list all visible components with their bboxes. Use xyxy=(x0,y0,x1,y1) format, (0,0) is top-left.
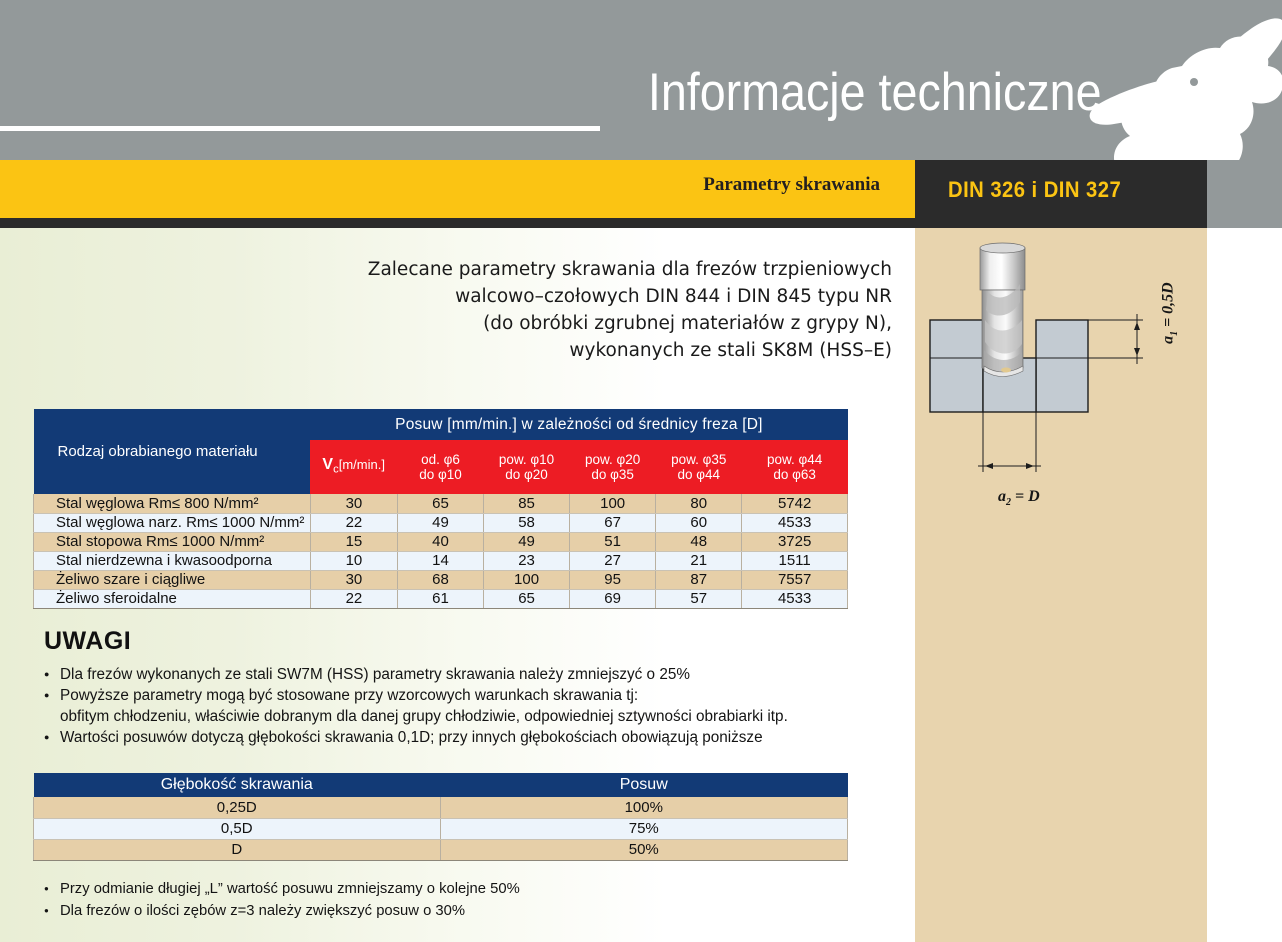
cell-feed-2: 23 xyxy=(483,551,569,570)
bottom-note-item: Przy odmianie długiej „L” wartość posuwu… xyxy=(44,878,844,900)
cell-vc: 22 xyxy=(310,589,397,608)
depth-table-body: 0,25D 100% 0,5D 75% D 50% xyxy=(34,797,848,860)
header-vc: Vc[m/min.] xyxy=(310,440,397,494)
horizontal-dimension-label: a2 = D xyxy=(998,488,1040,508)
cell-feed-3: 95 xyxy=(570,570,656,589)
vertical-dim-symbol: a xyxy=(1160,336,1177,344)
depth-head-row: Głębokość skrawania Posuw xyxy=(34,773,848,797)
cell-feed-1: 49 xyxy=(398,513,484,532)
intro-line-4: wykonanych ze stali SK8M (HSS–E) xyxy=(300,337,892,364)
cell-material: Stal węglowa narz. Rm≤ 1000 N/mm² xyxy=(34,513,311,532)
cell-feed-1: 14 xyxy=(398,551,484,570)
notes-title: UWAGI xyxy=(44,627,131,656)
note-item: Powyższe parametry mogą być stosowane pr… xyxy=(44,685,894,706)
header-rule xyxy=(0,126,600,131)
vc-symbol: V xyxy=(322,456,333,473)
table-row: Stal nierdzewna i kwasoodporna 10 14 23 … xyxy=(34,551,848,570)
table-head-row-1: Rodzaj obrabianego materiału Posuw [mm/m… xyxy=(34,409,848,440)
cell-feed-1: 61 xyxy=(398,589,484,608)
cell-feed: 50% xyxy=(440,839,847,860)
table-row: 0,5D 75% xyxy=(34,818,848,839)
end-mill-cutting-diagram xyxy=(928,240,1198,530)
cell-feed-4: 21 xyxy=(656,551,742,570)
cell-feed-2: 49 xyxy=(483,532,569,551)
cell-vc: 22 xyxy=(310,513,397,532)
cell-feed-3: 51 xyxy=(570,532,656,551)
cell-depth: D xyxy=(34,839,441,860)
bottom-note-item: Dla frezów o ilości zębów z=3 należy zwi… xyxy=(44,900,844,922)
cell-feed-2: 85 xyxy=(483,494,569,513)
banner-gray-tail xyxy=(1207,160,1282,228)
cell-feed-1: 40 xyxy=(398,532,484,551)
cell-feed-3: 27 xyxy=(570,551,656,570)
cell-material: Stal nierdzewna i kwasoodporna xyxy=(34,551,311,570)
header-dia-4-top: pow. φ35 xyxy=(656,452,741,467)
header-dia-1-bottom: do φ10 xyxy=(398,467,483,482)
table-row: Stal węglowa narz. Rm≤ 1000 N/mm² 22 49 … xyxy=(34,513,848,532)
cell-feed-4: 48 xyxy=(656,532,742,551)
header-dia-4: pow. φ35 do φ44 xyxy=(656,440,742,494)
cell-feed-5: 1511 xyxy=(742,551,848,570)
cell-material: Żeliwo sferoidalne xyxy=(34,589,311,608)
header-material: Rodzaj obrabianego materiału xyxy=(34,409,311,494)
cell-feed-4: 60 xyxy=(656,513,742,532)
cell-vc: 15 xyxy=(310,532,397,551)
standard-label: DIN 326 i DIN 327 xyxy=(948,177,1121,203)
table-row: 0,25D 100% xyxy=(34,797,848,818)
banner-yellow-bar: Parametry skrawania xyxy=(0,160,915,218)
table-row: Żeliwo szare i ciągliwe 30 68 100 95 87 … xyxy=(34,570,848,589)
depth-header-depth: Głębokość skrawania xyxy=(34,773,441,797)
cell-depth: 0,5D xyxy=(34,818,441,839)
vertical-dimension-label: a1 = 0,5D xyxy=(1160,282,1180,344)
hummingbird-icon xyxy=(1086,14,1282,160)
note-item: Wartości posuwów dotyczą głębokości skra… xyxy=(44,727,894,748)
cutting-parameters-table: Rodzaj obrabianego materiału Posuw [mm/m… xyxy=(33,409,848,609)
table-body: Stal węglowa Rm≤ 800 N/mm² 30 65 85 100 … xyxy=(34,494,848,608)
intro-line-1: Zalecane parametry skrawania dla frezów … xyxy=(300,256,892,283)
table-row: Stal węglowa Rm≤ 800 N/mm² 30 65 85 100 … xyxy=(34,494,848,513)
header-dia-3: pow. φ20 do φ35 xyxy=(570,440,656,494)
header-dia-5-bottom: do φ63 xyxy=(742,467,847,482)
header-dia-2: pow. φ10 do φ20 xyxy=(483,440,569,494)
section-banner: Parametry skrawania DIN 326 i DIN 327 xyxy=(0,160,1282,228)
cell-vc: 10 xyxy=(310,551,397,570)
header-dia-5: pow. φ44 do φ63 xyxy=(742,440,848,494)
table-head: Rodzaj obrabianego materiału Posuw [mm/m… xyxy=(34,409,848,494)
cell-vc: 30 xyxy=(310,494,397,513)
vertical-dim-subscript: 1 xyxy=(1169,331,1180,336)
vertical-dim-value: = 0,5D xyxy=(1160,282,1177,331)
cell-material: Stal stopowa Rm≤ 1000 N/mm² xyxy=(34,532,311,551)
cell-feed-2: 100 xyxy=(483,570,569,589)
depth-feed-table: Głębokość skrawania Posuw 0,25D 100% 0,5… xyxy=(33,773,848,861)
bottom-notes-list: Przy odmianie długiej „L” wartość posuwu… xyxy=(44,878,844,922)
cell-feed-5: 3725 xyxy=(742,532,848,551)
cell-material: Stal węglowa Rm≤ 800 N/mm² xyxy=(34,494,311,513)
depth-table-head: Głębokość skrawania Posuw xyxy=(34,773,848,797)
right-white-margin xyxy=(1207,228,1282,942)
intro-paragraph: Zalecane parametry skrawania dla frezów … xyxy=(300,256,892,364)
header-dia-5-top: pow. φ44 xyxy=(742,452,847,467)
horizontal-dimension xyxy=(978,412,1041,472)
cell-feed-3: 69 xyxy=(570,589,656,608)
table-row: Żeliwo sferoidalne 22 61 65 69 57 4533 xyxy=(34,589,848,608)
cell-feed-5: 4533 xyxy=(742,513,848,532)
horizontal-dim-symbol: a xyxy=(998,488,1006,505)
cell-depth: 0,25D xyxy=(34,797,441,818)
page-header: Informacje techniczne xyxy=(0,0,1282,160)
cell-material: Żeliwo szare i ciągliwe xyxy=(34,570,311,589)
note-item: Dla frezów wykonanych ze stali SW7M (HSS… xyxy=(44,664,894,685)
cell-feed-5: 5742 xyxy=(742,494,848,513)
cell-feed-2: 65 xyxy=(483,589,569,608)
intro-line-2: walcowo–czołowych DIN 844 i DIN 845 typu… xyxy=(300,283,892,310)
header-dia-3-bottom: do φ35 xyxy=(570,467,655,482)
cell-feed-4: 87 xyxy=(656,570,742,589)
section-label: Parametry skrawania xyxy=(703,174,880,196)
cell-feed-1: 68 xyxy=(398,570,484,589)
cell-feed-5: 7557 xyxy=(742,570,848,589)
depth-header-feed: Posuw xyxy=(440,773,847,797)
notes-list: Dla frezów wykonanych ze stali SW7M (HSS… xyxy=(44,664,894,748)
cell-feed-4: 57 xyxy=(656,589,742,608)
cell-feed-3: 100 xyxy=(570,494,656,513)
header-dia-4-bottom: do φ44 xyxy=(656,467,741,482)
cell-feed-4: 80 xyxy=(656,494,742,513)
vertical-dimension xyxy=(1088,314,1143,364)
vc-unit: [m/min.] xyxy=(339,457,385,472)
header-dia-2-top: pow. φ10 xyxy=(484,452,569,467)
header-dia-2-bottom: do φ20 xyxy=(484,467,569,482)
cell-vc: 30 xyxy=(310,570,397,589)
intro-line-3: (do obróbki zgrubnej materiałów z grypy … xyxy=(300,310,892,337)
note-sub-item: obfitym chłodzeniu, właściwie dobranym d… xyxy=(44,706,894,727)
header-dia-1-top: od. φ6 xyxy=(398,452,483,467)
cell-feed: 75% xyxy=(440,818,847,839)
cell-feed-1: 65 xyxy=(398,494,484,513)
cell-feed-2: 58 xyxy=(483,513,569,532)
horizontal-dim-value: = D xyxy=(1011,488,1040,505)
header-dia-1: od. φ6 do φ10 xyxy=(398,440,484,494)
table-row: D 50% xyxy=(34,839,848,860)
cell-feed-3: 67 xyxy=(570,513,656,532)
page-title: Informacje techniczne xyxy=(648,62,1102,123)
cell-feed: 100% xyxy=(440,797,847,818)
end-mill-tool xyxy=(980,243,1025,377)
cell-feed-5: 4533 xyxy=(742,589,848,608)
header-feed-span: Posuw [mm/min.] w zależności od średnicy… xyxy=(310,409,847,440)
header-dia-3-top: pow. φ20 xyxy=(570,452,655,467)
table-row: Stal stopowa Rm≤ 1000 N/mm² 15 40 49 51 … xyxy=(34,532,848,551)
